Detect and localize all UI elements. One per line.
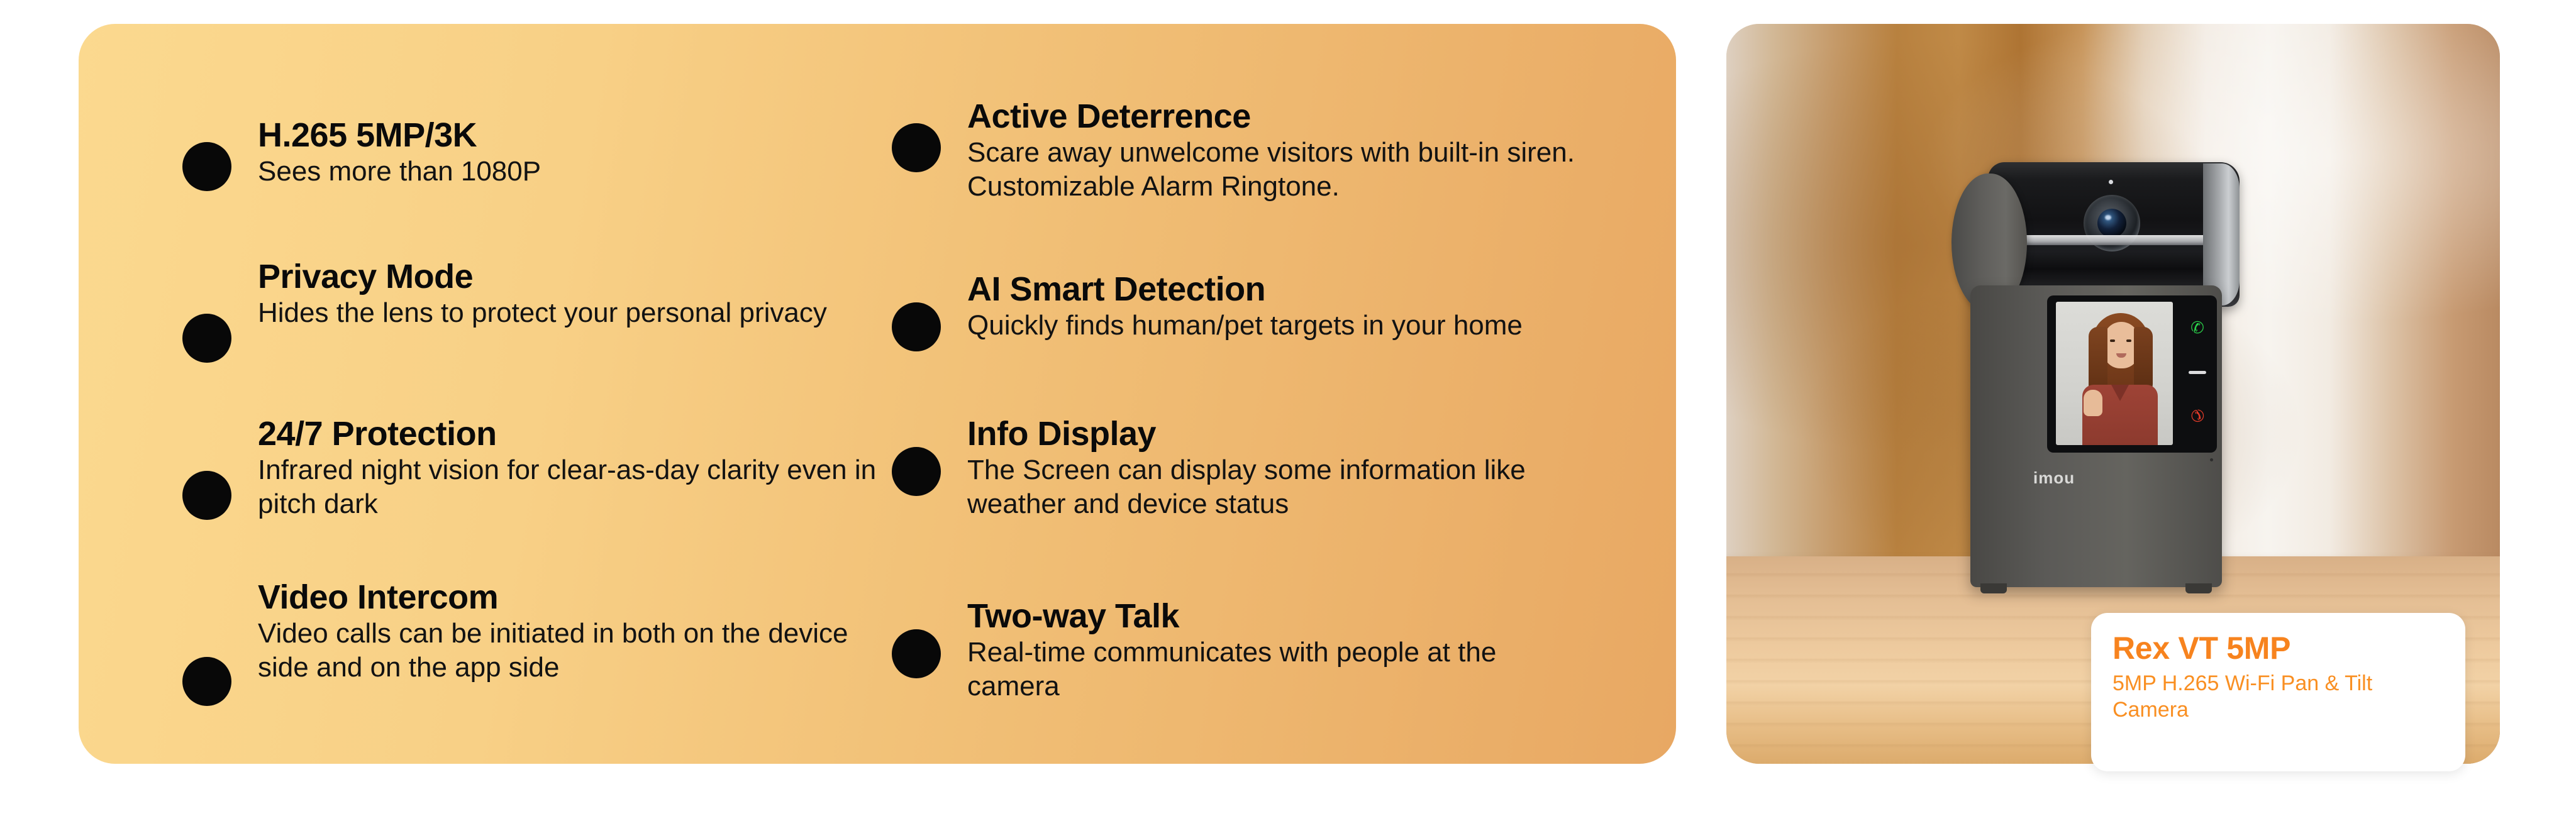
brand-logo: imou <box>2033 468 2075 488</box>
feature-description: Scare away unwelcome visitors with built… <box>967 136 1596 203</box>
feature-text: Privacy Mode Hides the lens to protect y… <box>258 260 887 330</box>
bullet-dot-icon <box>182 142 231 191</box>
camera-lens-glass <box>2097 209 2126 238</box>
feature-text: H.265 5MP/3K Sees more than 1080P <box>258 118 887 189</box>
feature-title: Video Intercom <box>258 580 887 614</box>
phone-decline-icon[interactable]: ✆ <box>2186 404 2209 427</box>
camera-body-mic-icon <box>2210 458 2213 461</box>
person-eye-right <box>2126 339 2131 342</box>
person-waving-hand <box>2084 390 2102 416</box>
minus-icon[interactable] <box>2189 371 2206 374</box>
feature-text: Active Deterrence Scare away unwelcome v… <box>967 99 1596 203</box>
product-card: Rex VT 5MP 5MP H.265 Wi-Fi Pan & Tilt Ca… <box>2091 613 2465 771</box>
product-subtitle: 5MP H.265 Wi-Fi Pan & Tilt Camera <box>2112 670 2444 724</box>
camera-head-side-cap <box>2203 163 2240 306</box>
bullet-dot-icon <box>892 447 941 496</box>
bullet-dot-icon <box>182 471 231 520</box>
bullet-dot-icon <box>892 123 941 172</box>
feature-description: Quickly finds human/pet targets in your … <box>967 309 1596 343</box>
feature-text: AI Smart Detection Quickly finds human/p… <box>967 272 1596 343</box>
bullet-dot-icon <box>182 314 231 363</box>
feature-text: 24/7 Protection Infrared night vision fo… <box>258 417 887 521</box>
feature-title: Two-way Talk <box>967 599 1596 633</box>
camera-device: ✆ ✆ imou <box>1951 162 2241 602</box>
camera-lens-glint <box>2105 215 2111 220</box>
feature-title: Privacy Mode <box>258 260 887 294</box>
bullet-dot-icon <box>892 302 941 351</box>
camera-foot-right <box>2185 583 2212 593</box>
feature-description: Infrared night vision for clear-as-day c… <box>258 453 887 521</box>
feature-description: Real-time communicates with people at th… <box>967 636 1596 703</box>
feature-title: H.265 5MP/3K <box>258 118 887 152</box>
feature-text: Info Display The Screen can display some… <box>967 417 1596 521</box>
feature-title: Active Deterrence <box>967 99 1596 133</box>
feature-description: Hides the lens to protect your personal … <box>258 296 887 330</box>
feature-description: The Screen can display some information … <box>967 453 1596 521</box>
camera-screen <box>2056 302 2173 445</box>
camera-body: ✆ ✆ <box>1970 285 2222 587</box>
feature-column-right: Active Deterrence Scare away unwelcome v… <box>892 24 1634 764</box>
feature-description: Video calls can be initiated in both on … <box>258 617 887 684</box>
feature-title: Info Display <box>967 417 1596 451</box>
feature-column-left: H.265 5MP/3K Sees more than 1080P Privac… <box>182 24 887 764</box>
product-name: Rex VT 5MP <box>2112 632 2444 665</box>
phone-answer-icon[interactable]: ✆ <box>2189 319 2206 336</box>
feature-title: 24/7 Protection <box>258 417 887 451</box>
feature-text: Video Intercom Video calls can be initia… <box>258 580 887 684</box>
feature-panel: H.265 5MP/3K Sees more than 1080P Privac… <box>79 24 1676 764</box>
bullet-dot-icon <box>182 657 231 706</box>
bullet-dot-icon <box>892 629 941 678</box>
person-eye-left <box>2110 339 2115 342</box>
camera-screen-bezel: ✆ ✆ <box>2047 295 2217 453</box>
camera-mic-dot-icon <box>2109 180 2113 184</box>
feature-description: Sees more than 1080P <box>258 155 887 189</box>
camera-foot-left <box>1980 583 2007 593</box>
feature-text: Two-way Talk Real-time communicates with… <box>967 599 1596 703</box>
feature-title: AI Smart Detection <box>967 272 1596 306</box>
